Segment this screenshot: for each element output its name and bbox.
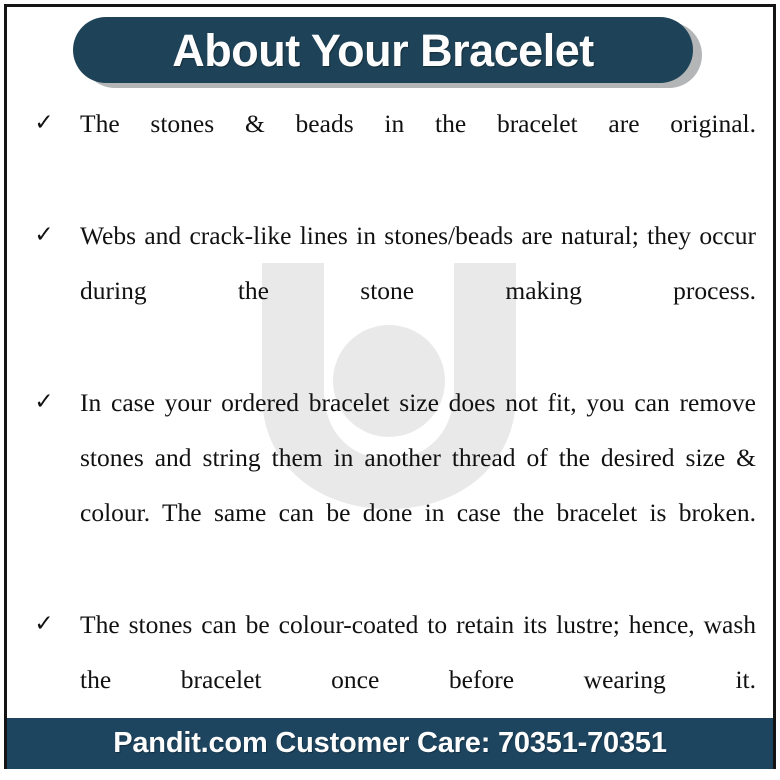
list-item-text: The stones & beads in the bracelet are o… [80,96,756,206]
checkmark-icon: ✓ [32,375,56,430]
list-item: ✓ Webs and crack-like lines in stones/be… [12,208,768,373]
customer-care-text: Pandit.com Customer Care: 70351-70351 [113,727,667,760]
list-item: ✓ The stones & beads in the bracelet are… [12,96,768,206]
list-item-text: Webs and crack-like lines in stones/bead… [80,208,756,373]
checkmark-icon: ✓ [32,208,56,263]
header-pill: About Your Bracelet [73,17,693,83]
list-item-text: In case your ordered bracelet size does … [80,375,756,595]
bullet-list-area: ✓ The stones & beads in the bracelet are… [12,96,768,706]
about-your-bracelet-card: About Your Bracelet ✓ The stones & beads… [0,0,780,780]
checkmark-icon: ✓ [32,597,56,652]
bullet-list: ✓ The stones & beads in the bracelet are… [12,96,768,762]
page-title: About Your Bracelet [172,28,593,73]
list-item: ✓ In case your ordered bracelet size doe… [12,375,768,595]
header: About Your Bracelet [0,14,780,90]
checkmark-icon: ✓ [32,96,56,151]
footer-bar: Pandit.com Customer Care: 70351-70351 [7,718,773,769]
